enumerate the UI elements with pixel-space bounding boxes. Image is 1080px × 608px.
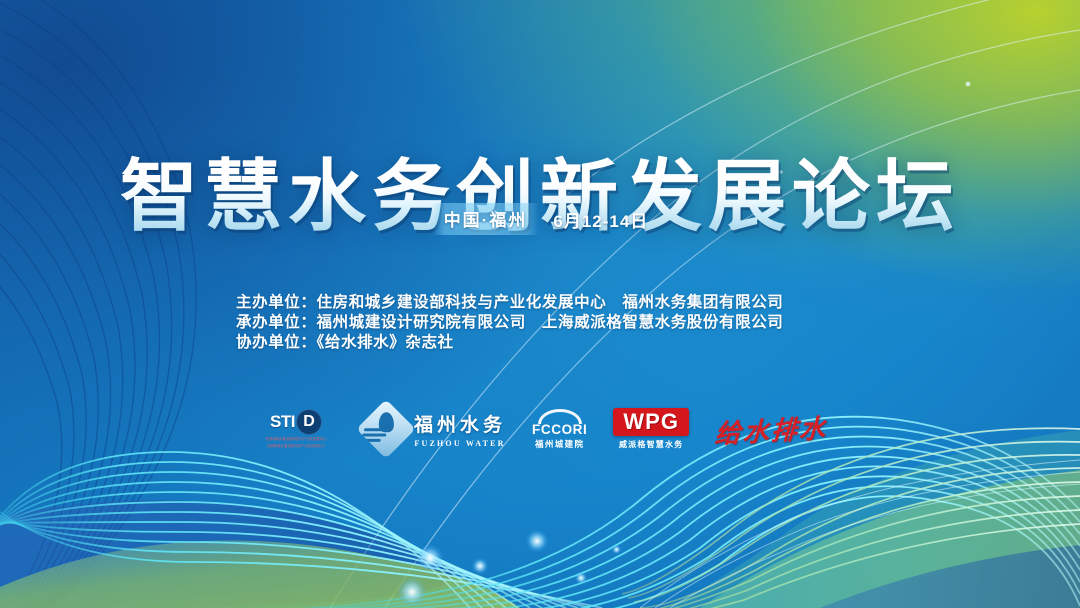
- fuzhou-water-text: 福州水务 FUZHOU WATER: [414, 410, 506, 448]
- glow-dot: [526, 530, 548, 552]
- organizer-block: 主办单位：住房和城乡建设部科技与产业化发展中心 福州水务集团有限公司 承办单位：…: [236, 293, 783, 353]
- poster-subtitle: 中国·福州 6月12-14日: [0, 203, 1080, 235]
- wpg-badge: WPG: [613, 408, 689, 436]
- glow-dot: [398, 578, 426, 606]
- organizer-line-coorganizer: 协办单位：《给水排水》杂志社: [236, 333, 783, 353]
- subtitle-location: 中国·福州: [432, 203, 540, 235]
- logo-fuzhou-water: 福州水务 FUZHOU WATER: [365, 401, 506, 457]
- fuzhou-water-name-en: FUZHOU WATER: [414, 439, 505, 448]
- glow-dot: [575, 572, 587, 584]
- stid-badge-letter: D: [303, 414, 315, 430]
- organizer-line-undertaker: 承办单位：福州城建设计研究院有限公司 上海威派格智慧水务股份有限公司: [236, 313, 783, 333]
- organizer-line-host: 主办单位：住房和城乡建设部科技与产业化发展中心 福州水务集团有限公司: [236, 293, 783, 313]
- stid-mark: STI D: [270, 409, 322, 435]
- wpg-name-cn: 威派格智慧水务: [619, 439, 683, 450]
- sponsor-logo-strip: STI D 住房和城乡建设部科技与产业化发展中心 住房和城乡建设部住宅产业化促进…: [0, 398, 1080, 460]
- glow-dot: [417, 545, 443, 571]
- conference-poster: 智慧水务创新发展论坛 中国·福州 6月12-14日 主办单位：住房和城乡建设部科…: [0, 0, 1080, 608]
- blob-green-right: [700, 470, 1080, 608]
- water-wastewater-name-cn: 给水排水: [714, 408, 828, 451]
- wave-bundle-left: [0, 452, 602, 608]
- glow-dot: [612, 545, 621, 554]
- stid-letters: STI: [270, 412, 295, 432]
- blob-green-left: [0, 540, 520, 608]
- logo-wpg: WPG 威派格智慧水务: [613, 401, 689, 457]
- wpg-name-en: WPG: [623, 410, 679, 433]
- fccori-arc-icon: [538, 409, 582, 424]
- blob-blue-left: [0, 500, 454, 608]
- stid-caption-line1: 住房和城乡建设部科技与产业化发展中心: [254, 437, 338, 442]
- logo-stid: STI D 住房和城乡建设部科技与产业化发展中心 住房和城乡建设部住宅产业化促进…: [253, 401, 339, 457]
- logo-fccori: FCCORI 福州城建院: [532, 401, 587, 457]
- stid-badge-icon: D: [296, 409, 322, 435]
- stid-caption-line2: 住房和城乡建设部住宅产业化促进中心: [254, 444, 338, 449]
- water-droplet-icon: [356, 399, 415, 458]
- fuzhou-water-name-cn: 福州水务: [414, 410, 506, 437]
- ring-texture: [0, 0, 196, 608]
- fccori-name-cn: 福州城建院: [535, 438, 585, 450]
- wave-threads: [640, 460, 1080, 608]
- logo-water-and-wastewater: 给水排水: [715, 401, 827, 457]
- fccori-name-en: FCCORI: [532, 422, 587, 437]
- subtitle-date: 6月12-14日: [553, 207, 648, 232]
- blob-blue-right: [820, 545, 1080, 608]
- glow-dot: [472, 558, 488, 574]
- arc-node-dot: [966, 82, 971, 87]
